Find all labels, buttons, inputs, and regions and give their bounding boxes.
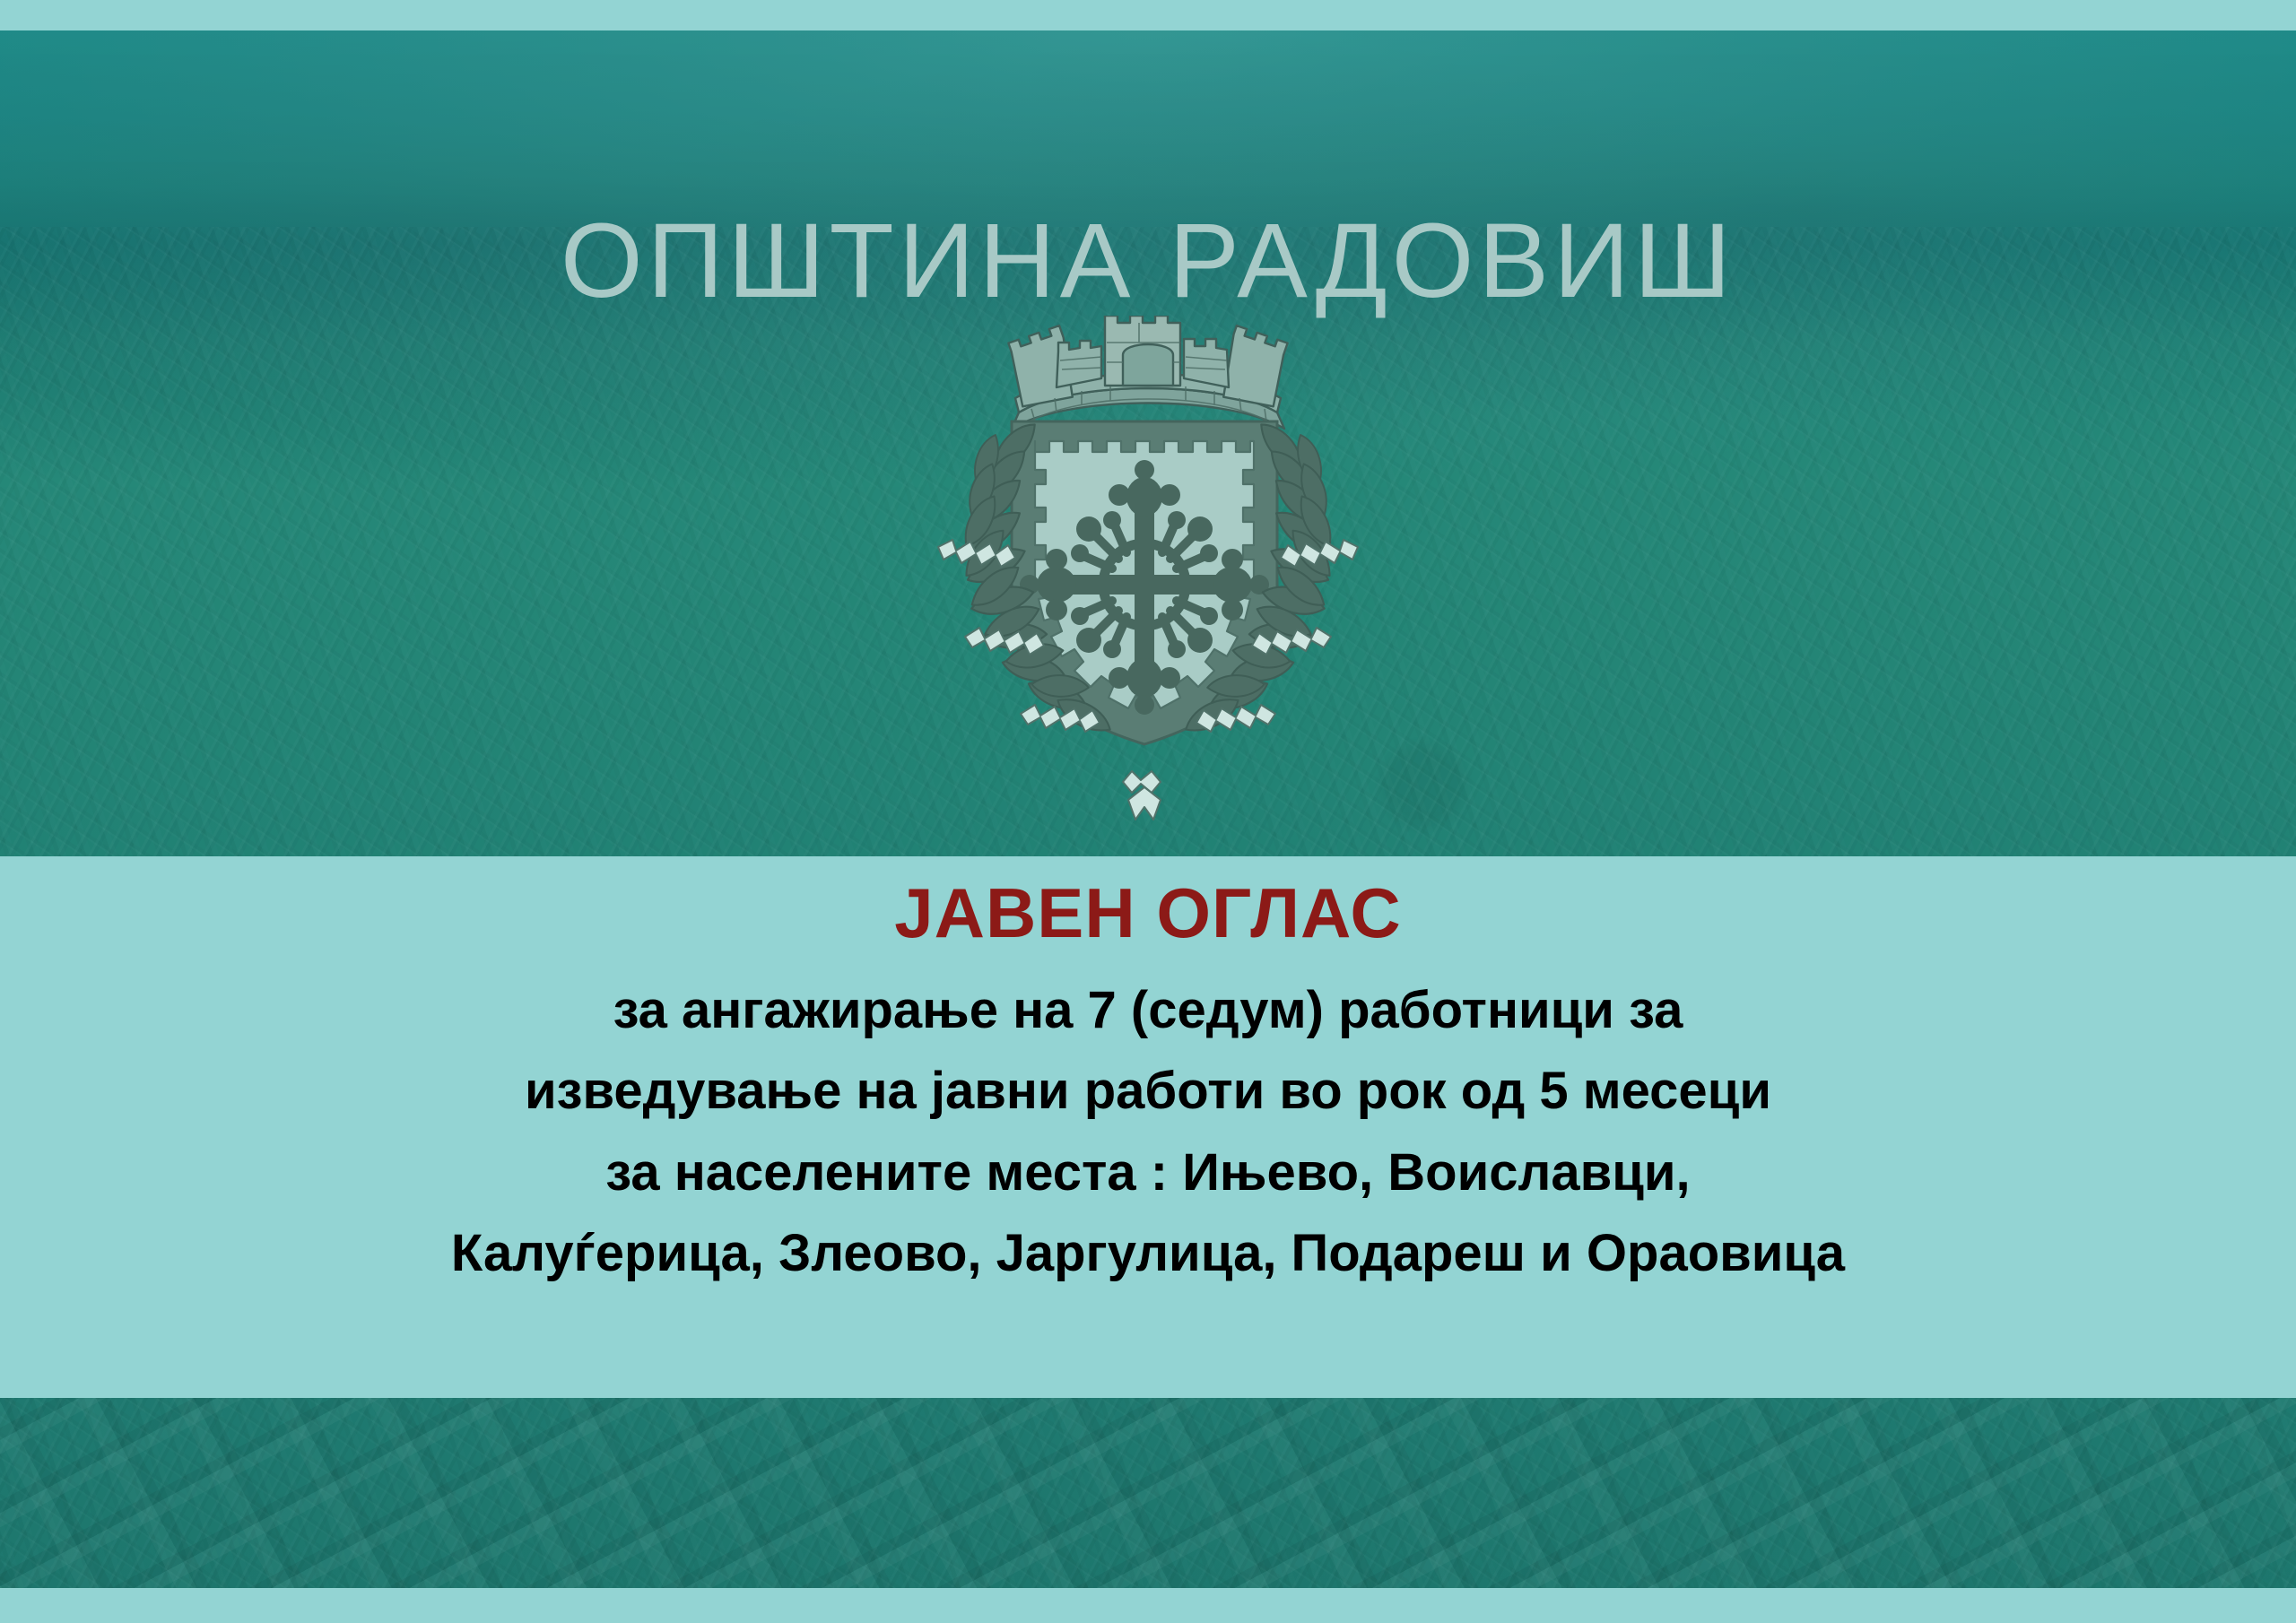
notice-line: Калуѓерица, Злеово, Јаргулица, Подареш и…: [451, 1213, 1845, 1294]
notice-heading: ЈАВЕН ОГЛАС: [894, 876, 1401, 950]
notice-body: за ангажирање на 7 (седум) работници за …: [451, 970, 1845, 1295]
municipality-title: ОПШТИНА РАДОВИШ: [0, 208, 2296, 314]
notice-line: за населените места : Ињево, Воиславци,: [451, 1133, 1845, 1213]
coat-of-arms-crest-icon: [915, 316, 1381, 854]
top-accent-band: [0, 0, 2296, 30]
notice-line: изведување на јавни работи во рок од 5 м…: [451, 1051, 1845, 1132]
notice-line: за ангажирање на 7 (седум) работници за: [451, 970, 1845, 1051]
bottom-accent-band: [0, 1588, 2296, 1623]
notice-panel: ЈАВЕН ОГЛАС за ангажирање на 7 (седум) р…: [0, 856, 2296, 1398]
public-announcement-poster: ОПШТИНА РАДОВИШ: [0, 0, 2296, 1623]
